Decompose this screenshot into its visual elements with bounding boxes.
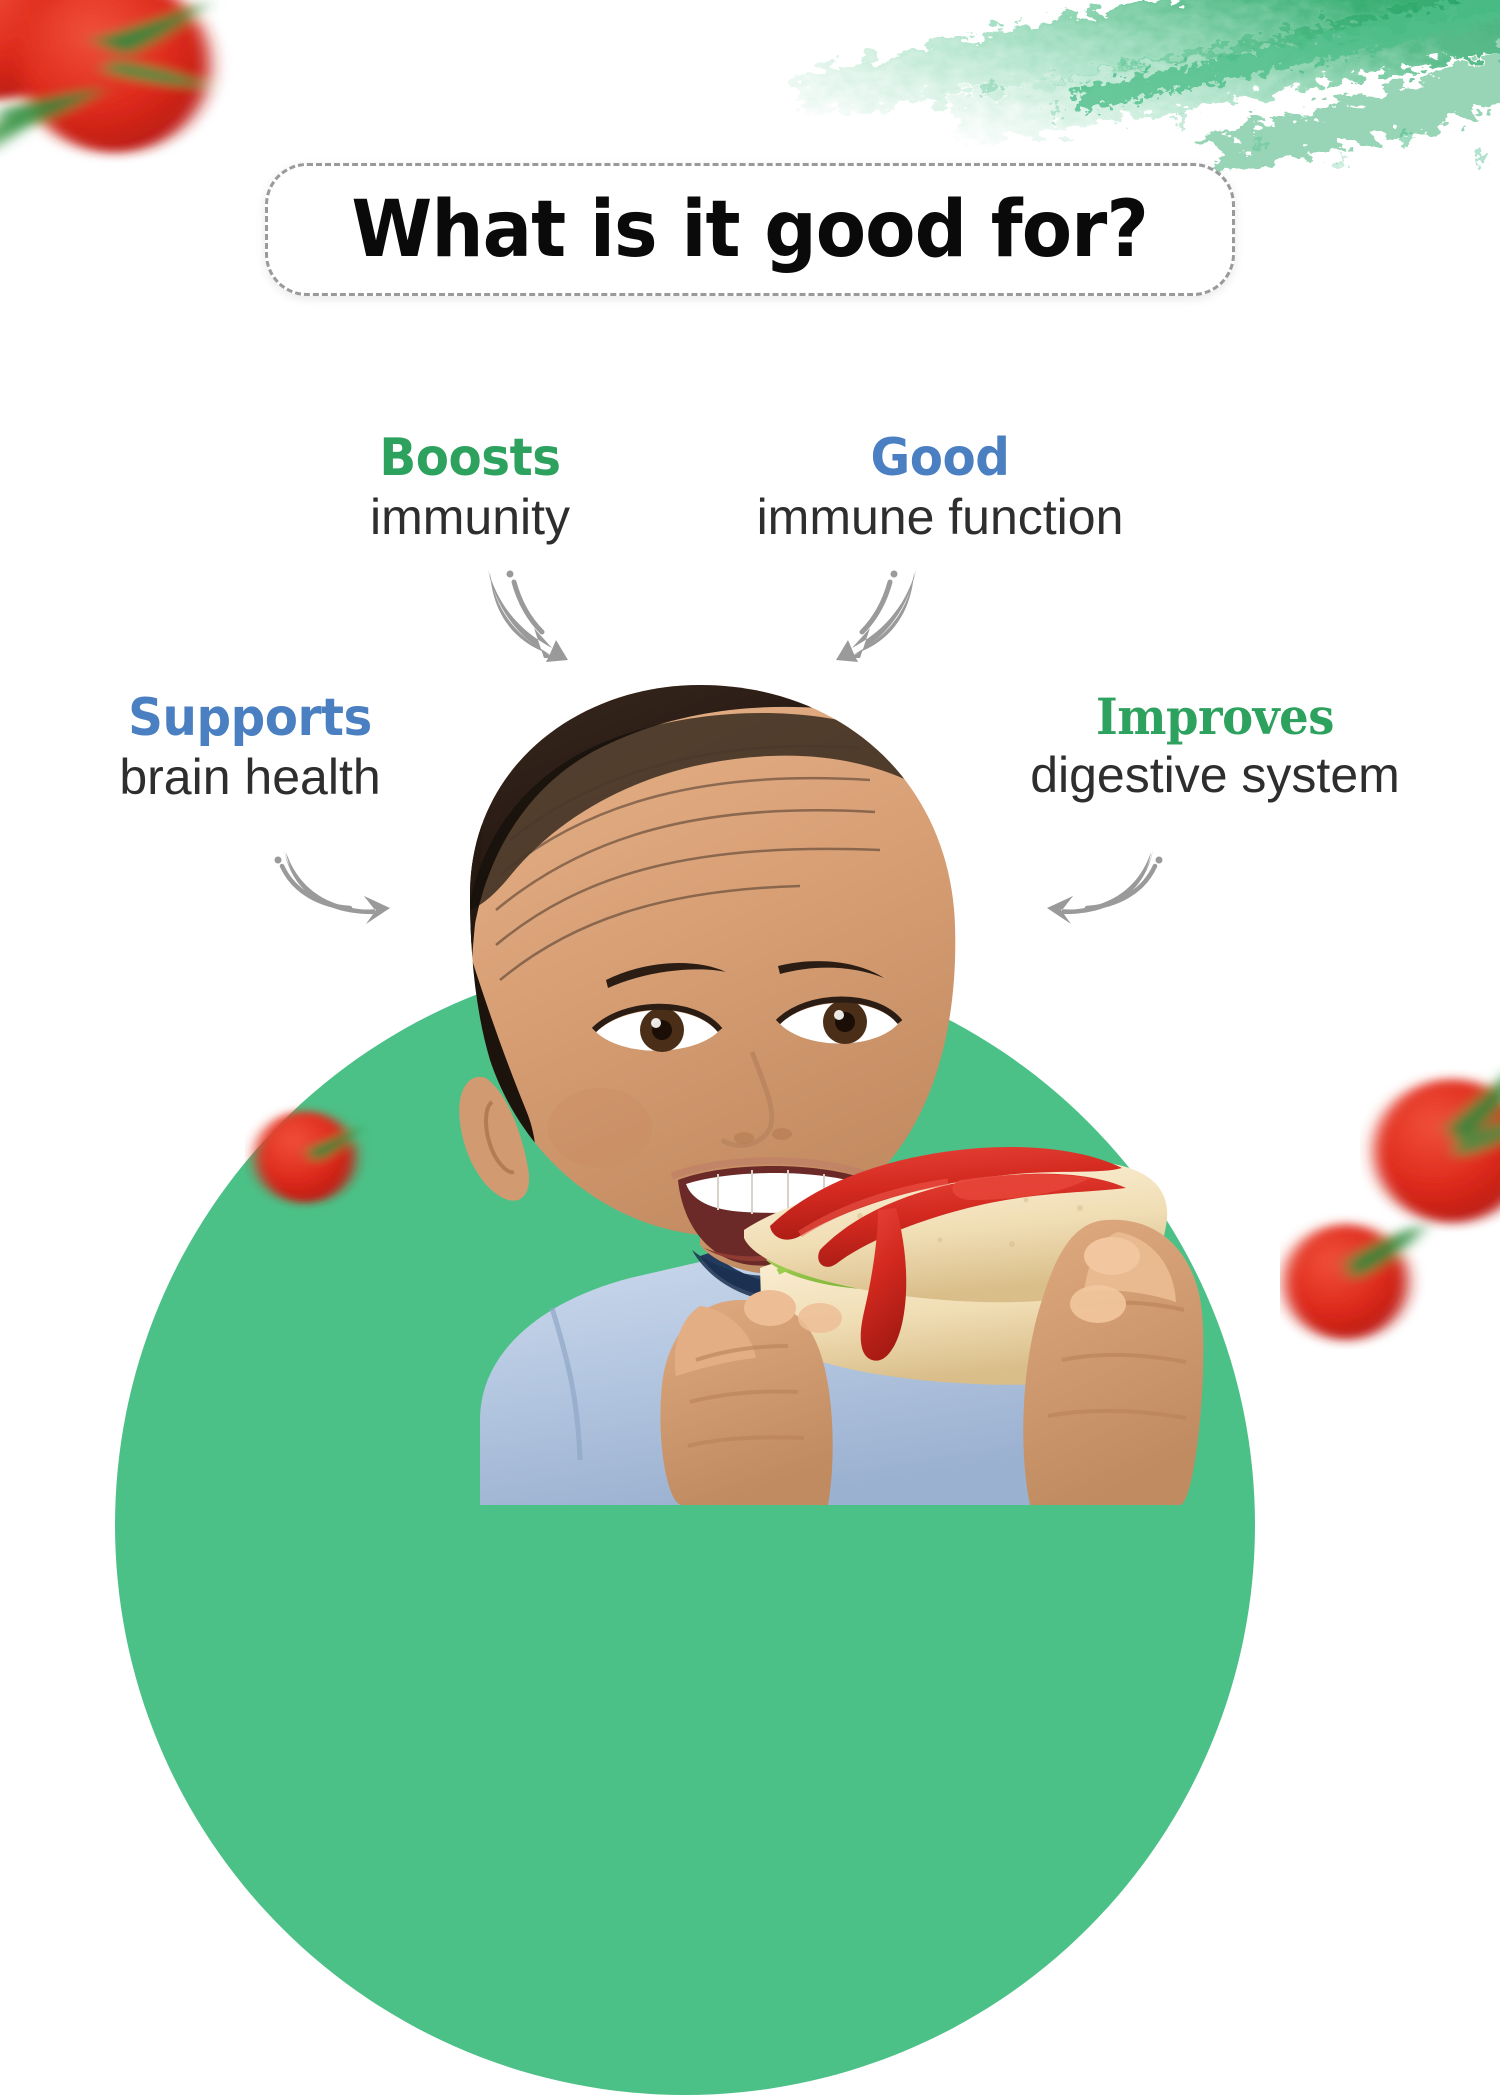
infographic-stage: What is it good for? Boosts immunity Goo… xyxy=(0,0,1500,1500)
tomato-right-upper-icon xyxy=(1360,1055,1500,1245)
benefit-digestive-system: Improves digestive system xyxy=(955,692,1475,800)
benefit-digestive-text: digestive system xyxy=(955,750,1475,800)
benefit-immune-text: immune function xyxy=(690,492,1190,542)
benefit-brain-text: brain health xyxy=(40,752,460,802)
benefit-immune-function: Good immune function xyxy=(690,432,1190,542)
benefit-immunity-lead: Boosts xyxy=(312,432,628,484)
curved-arrow-down-right-icon xyxy=(472,562,582,667)
tomato-cluster-top-left-icon xyxy=(0,0,270,240)
headline-card: What is it good for? xyxy=(265,163,1235,296)
tomato-right-lower-icon xyxy=(1280,1190,1440,1350)
benefit-digestive-lead: Improves xyxy=(973,692,1457,742)
green-brush-stroke-icon xyxy=(660,0,1500,180)
benefit-brain-lead: Supports xyxy=(55,692,446,744)
curved-arrow-down-left-icon xyxy=(822,562,932,667)
benefit-brain-health: Supports brain health xyxy=(40,692,460,802)
benefit-immune-lead: Good xyxy=(708,432,1173,484)
benefit-immunity-text: immunity xyxy=(300,492,640,542)
page-title: What is it good for? xyxy=(352,191,1149,269)
benefit-immunity: Boosts immunity xyxy=(300,432,640,542)
